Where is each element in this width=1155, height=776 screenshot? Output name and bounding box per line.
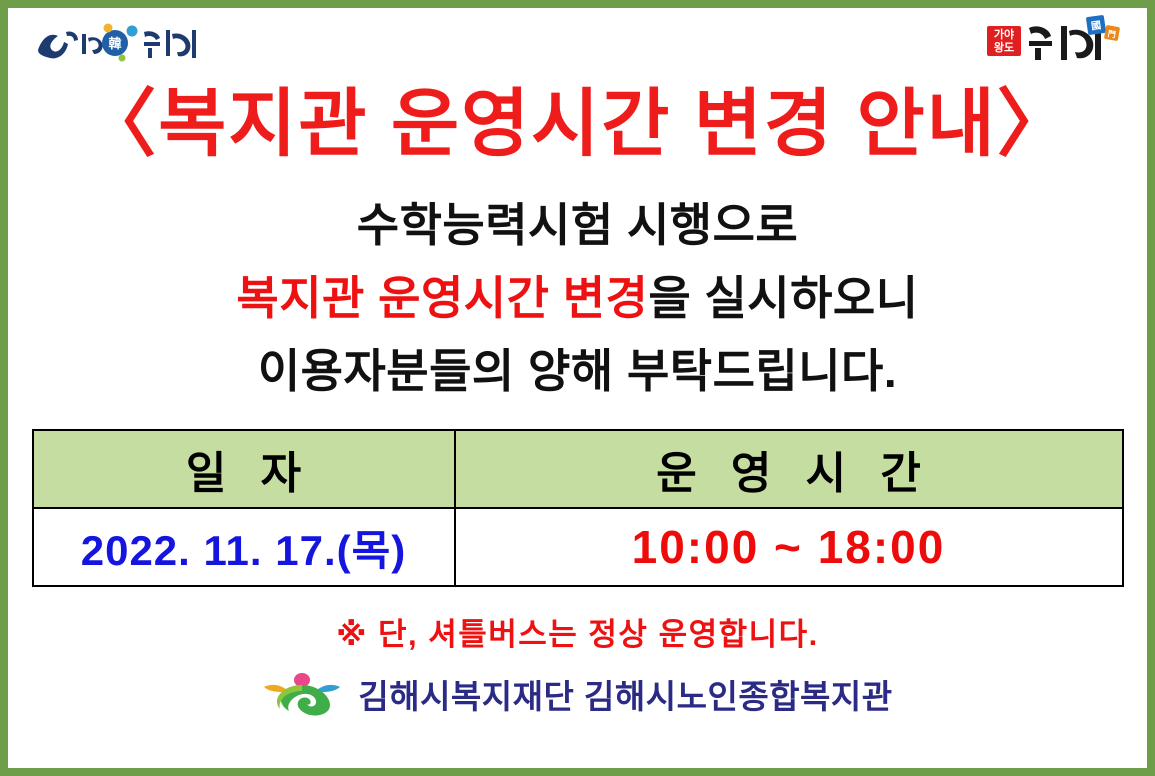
footer-organization: 김해시복지재단 김해시노인종합복지관: [358, 670, 892, 718]
column-header-hours: 운 영 시 간: [455, 430, 1123, 508]
page-title: 〈복지관 운영시간 변경 안내〉: [30, 86, 1125, 161]
svg-text:韓: 韓: [108, 36, 121, 51]
body-line-2: 복지관 운영시간 변경을 실시하오니: [30, 262, 1125, 335]
svg-text:國: 國: [1090, 19, 1102, 32]
gimhae-city-logo-icon: 가야 왕도 國 門: [983, 12, 1123, 70]
body-line-3: 이용자분들의 양해 부탁드립니다.: [30, 335, 1125, 408]
schedule-table-body: 2022. 11. 17.(목) 10:00 ~ 18:00: [33, 508, 1123, 586]
column-header-date: 일 자: [33, 430, 455, 508]
cheongryeom-gimhae-logo-icon: 韓: [32, 20, 202, 66]
table-row: 2022. 11. 17.(목) 10:00 ~ 18:00: [33, 508, 1123, 586]
gimhae-welfare-foundation-logo-icon: [262, 671, 342, 717]
poster-inner: 韓: [8, 8, 1147, 768]
footer: 김해시복지재단 김해시노인종합복지관: [30, 670, 1125, 718]
body-line-2-highlight: 복지관 운영시간 변경: [236, 272, 648, 324]
svg-text:門: 門: [1107, 29, 1116, 39]
body-message: 수학능력시험 시행으로 복지관 운영시간 변경을 실시하오니 이용자분들의 양해…: [30, 189, 1125, 407]
cell-date: 2022. 11. 17.(목): [33, 508, 455, 586]
svg-text:가야: 가야: [994, 27, 1014, 41]
logo-row: 韓: [30, 8, 1125, 72]
cell-hours: 10:00 ~ 18:00: [455, 508, 1123, 586]
body-line-2-rest: 을 실시하오니: [648, 272, 918, 324]
footnote: ※ 단, 셔틀버스는 정상 운영합니다.: [30, 609, 1125, 654]
body-line-1: 수학능력시험 시행으로: [30, 189, 1125, 262]
schedule-table-head: 일 자 운 영 시 간: [33, 430, 1123, 508]
notice-poster: 韓: [0, 0, 1155, 776]
schedule-table: 일 자 운 영 시 간 2022. 11. 17.(목) 10:00 ~ 18:…: [32, 429, 1124, 587]
table-header-row: 일 자 운 영 시 간: [33, 430, 1123, 508]
svg-text:왕도: 왕도: [994, 40, 1014, 54]
